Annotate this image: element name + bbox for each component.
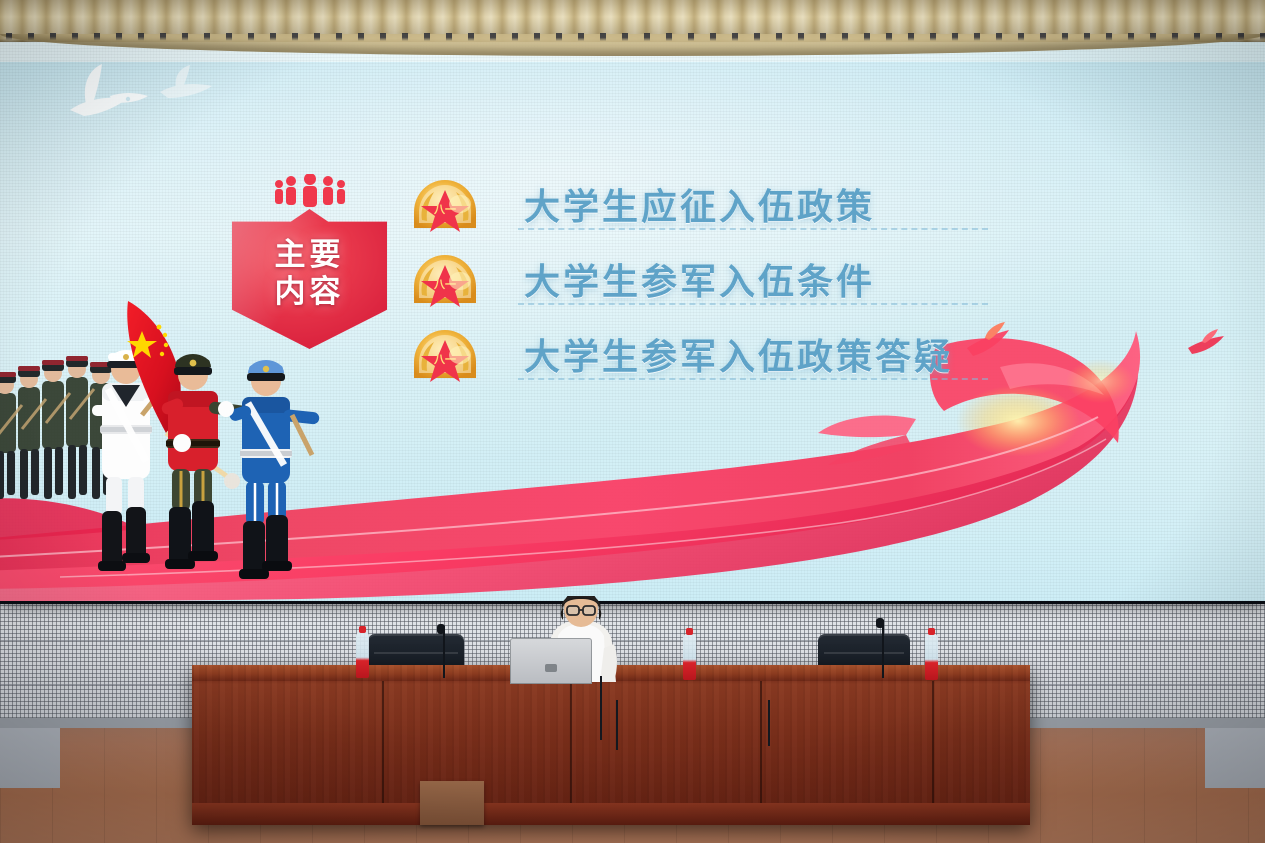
- slide-content-list: 八一 大学生应征入伍政策 八一 大学生参军入伍条件: [408, 174, 1048, 399]
- curtain-hem-hooks: [0, 33, 1265, 42]
- pla-bayi-emblem-icon: 八一: [408, 251, 482, 313]
- table-panel-seam: [932, 681, 934, 807]
- left-water-bottle: [356, 632, 369, 678]
- wall-seam: [0, 640, 1265, 641]
- list-item: 八一 大学生参军入伍条件: [408, 249, 1048, 324]
- power-cable: [616, 700, 618, 750]
- bottle-cap: [686, 628, 693, 635]
- led-presentation-screen: 主要 内容 八一: [0, 34, 1265, 601]
- list-item-underline: [518, 228, 988, 230]
- table-wood-grain: [192, 665, 1030, 825]
- dove-icon: [1186, 326, 1228, 360]
- table-panel-seam: [382, 681, 384, 807]
- laptop-logo: [545, 664, 557, 672]
- main-content-badge: 主要 内容: [232, 209, 387, 349]
- badge-label: 主要 内容: [232, 237, 387, 311]
- badge-label-line2: 内容: [232, 274, 387, 311]
- right-microphone: [879, 618, 887, 678]
- people-group-icon: [270, 174, 350, 208]
- pla-bayi-emblem-icon: 八一: [408, 326, 482, 388]
- table-panel-seam: [760, 681, 762, 807]
- mic-gooseneck: [443, 626, 445, 678]
- airforce-honor-guard: [218, 360, 320, 579]
- left-microphone: [440, 624, 448, 678]
- list-item-label: 大学生参军入伍条件: [524, 253, 875, 305]
- list-item-label: 大学生应征入伍政策: [524, 178, 875, 230]
- dove-icon: [52, 56, 162, 136]
- table-base-trim: [192, 803, 1030, 825]
- bottle-cap: [359, 626, 366, 633]
- list-item-label: 大学生参军入伍政策答疑: [524, 328, 953, 380]
- center-water-bottle: [683, 634, 696, 680]
- list-item-underline: [518, 303, 988, 305]
- stage-curtain: [0, 0, 1265, 42]
- presenter-laptop[interactable]: [510, 638, 592, 684]
- cable-floor-box: [420, 781, 484, 825]
- bottle-cap: [928, 628, 935, 635]
- right-water-bottle: [925, 634, 938, 680]
- list-item: 八一 大学生应征入伍政策: [408, 174, 1048, 249]
- mic-gooseneck: [882, 620, 884, 678]
- floor-cable: [768, 700, 770, 746]
- chair-seam: [824, 652, 905, 654]
- badge-label-line1: 主要: [232, 237, 387, 274]
- dove-icon: [150, 60, 230, 110]
- list-item-underline: [518, 378, 988, 380]
- list-item: 八一 大学生参军入伍政策答疑: [408, 324, 1048, 399]
- auditorium-stage-scene: 主要 内容 八一: [0, 0, 1265, 843]
- table-panel-seam: [570, 681, 572, 807]
- pla-bayi-emblem-icon: 八一: [408, 176, 482, 238]
- microphone-cable: [600, 676, 602, 740]
- conference-table: [192, 665, 1030, 825]
- laptop-lid: [510, 638, 592, 684]
